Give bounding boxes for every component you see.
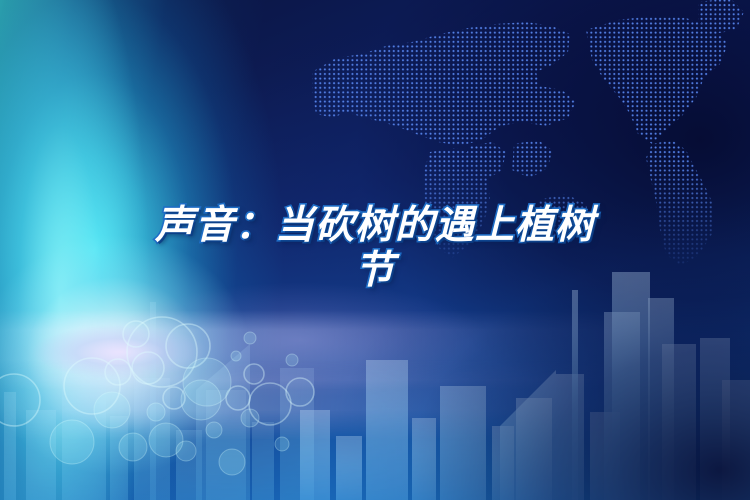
bokeh-circle [206, 422, 222, 438]
bokeh-circle [183, 358, 231, 406]
bokeh-circle [219, 449, 245, 475]
title-line-1: 声音：当砍树的遇上植树 [0, 203, 750, 248]
bokeh-circle [163, 387, 185, 409]
bokeh-circle [0, 374, 40, 426]
bokeh-circle [244, 332, 256, 344]
bokeh-circle [105, 359, 131, 385]
bokeh-circle [249, 383, 291, 425]
bokeh-circle [275, 437, 289, 451]
bokeh-circle [147, 403, 165, 421]
bokeh-circle [176, 441, 196, 461]
bokeh-circle [231, 351, 241, 361]
bokeh-circle [50, 420, 94, 464]
bokeh-circle [286, 378, 314, 406]
cover-image-canvas: 声音：当砍树的遇上植树 节 [0, 0, 750, 500]
bokeh-circle [244, 364, 264, 384]
title-line-2: 节 [0, 248, 750, 293]
bokeh-circle [119, 433, 147, 461]
bokeh-circle [286, 354, 298, 366]
page-title: 声音：当砍树的遇上植树 节 [0, 203, 750, 293]
